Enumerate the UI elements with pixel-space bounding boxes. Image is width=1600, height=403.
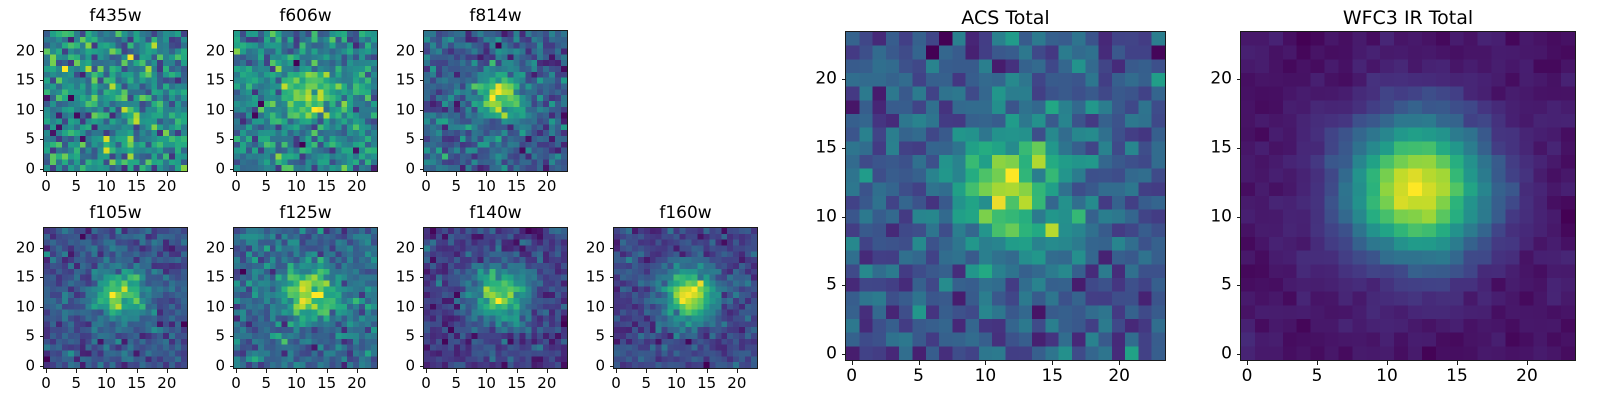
y-tickmark-f105w-10 — [40, 307, 44, 308]
y-tickmark-f140w-20 — [420, 248, 424, 249]
y-tickmark-f814w-15 — [420, 80, 424, 81]
x-tick-label-f814w-10: 10 — [477, 179, 496, 194]
heatmap-image-wfc3-ir-total — [1241, 32, 1575, 360]
x-tick-label-f435w-0: 0 — [41, 179, 51, 194]
axes-f105w — [43, 227, 188, 369]
x-tickmark-f125w-10 — [296, 369, 297, 373]
x-tick-label-f105w-0: 0 — [41, 376, 51, 391]
y-tick-label-f105w-15: 15 — [0, 270, 35, 285]
y-tick-label-f435w-10: 10 — [0, 102, 35, 117]
x-tick-label-f140w-5: 5 — [451, 376, 461, 391]
y-tick-label-f606w-15: 15 — [173, 73, 225, 88]
y-tickmark-f125w-10 — [230, 307, 234, 308]
y-tick-label-f105w-0: 0 — [0, 359, 35, 374]
panel-title-f105w: f105w — [43, 205, 188, 222]
x-tickmark-f160w-0 — [616, 369, 617, 373]
y-tickmark-f814w-0 — [420, 169, 424, 170]
x-tick-label-f105w-15: 15 — [127, 376, 146, 391]
y-tickmark-f125w-5 — [230, 336, 234, 337]
y-tickmark-wfc3-ir-total-20 — [1237, 79, 1241, 80]
y-tickmark-f606w-10 — [230, 110, 234, 111]
y-tick-label-f435w-20: 20 — [0, 43, 35, 58]
x-tickmark-f140w-0 — [426, 369, 427, 373]
y-tickmark-f105w-20 — [40, 248, 44, 249]
y-tickmark-f125w-0 — [230, 366, 234, 367]
y-tickmark-acs-total-15 — [842, 148, 846, 149]
y-tick-label-acs-total-5: 5 — [785, 277, 837, 294]
x-tickmark-f105w-15 — [137, 369, 138, 373]
x-tickmark-acs-total-0 — [852, 361, 853, 365]
y-tickmark-f606w-15 — [230, 80, 234, 81]
axes-f160w — [613, 227, 758, 369]
x-tick-label-wfc3-ir-total-5: 5 — [1312, 368, 1323, 385]
x-tick-label-f814w-15: 15 — [507, 179, 526, 194]
panel-title-f160w: f160w — [613, 205, 758, 222]
heatmap-image-acs-total — [846, 32, 1165, 360]
heatmap-image-f606w — [234, 31, 377, 171]
x-tick-label-f814w-0: 0 — [421, 179, 431, 194]
x-tickmark-wfc3-ir-total-0 — [1247, 361, 1248, 365]
panel-f814w: f814w0510152005101520 — [363, 4, 588, 206]
axes-wfc3-ir-total — [1240, 31, 1576, 361]
y-tickmark-f140w-10 — [420, 307, 424, 308]
x-tick-label-acs-total-15: 15 — [1041, 368, 1063, 385]
x-tickmark-f105w-0 — [46, 369, 47, 373]
x-tick-label-wfc3-ir-total-10: 10 — [1376, 368, 1398, 385]
x-tick-label-f435w-5: 5 — [71, 179, 81, 194]
x-tickmark-f606w-10 — [296, 172, 297, 176]
x-tickmark-f160w-15 — [707, 369, 708, 373]
x-tick-label-f435w-15: 15 — [127, 179, 146, 194]
y-tick-label-f105w-20: 20 — [0, 240, 35, 255]
y-tickmark-acs-total-10 — [842, 217, 846, 218]
y-tickmark-wfc3-ir-total-10 — [1237, 217, 1241, 218]
y-tick-label-f606w-20: 20 — [173, 43, 225, 58]
x-tick-label-f160w-0: 0 — [611, 376, 621, 391]
y-tick-label-acs-total-10: 10 — [785, 208, 837, 225]
x-tickmark-f435w-5 — [76, 172, 77, 176]
x-tick-label-f105w-5: 5 — [71, 376, 81, 391]
y-tick-label-f125w-0: 0 — [173, 359, 225, 374]
y-tickmark-f814w-5 — [420, 139, 424, 140]
y-tickmark-wfc3-ir-total-15 — [1237, 148, 1241, 149]
y-tickmark-f105w-0 — [40, 366, 44, 367]
y-tick-label-f814w-10: 10 — [363, 102, 415, 117]
x-tickmark-f606w-0 — [236, 172, 237, 176]
heatmap-image-f140w — [424, 228, 567, 368]
panel-title-f606w: f606w — [233, 8, 378, 25]
y-tick-label-f435w-15: 15 — [0, 73, 35, 88]
x-tick-label-f160w-20: 20 — [727, 376, 746, 391]
panel-title-f125w: f125w — [233, 205, 378, 222]
x-tick-label-f814w-5: 5 — [451, 179, 461, 194]
y-tickmark-f435w-10 — [40, 110, 44, 111]
x-tickmark-acs-total-15 — [1052, 361, 1053, 365]
y-tick-label-f160w-10: 10 — [553, 299, 605, 314]
x-tickmark-acs-total-10 — [985, 361, 986, 365]
y-tick-label-f814w-5: 5 — [363, 132, 415, 147]
figure-canvas: f435w0510152005101520f606w05101520051015… — [0, 0, 1600, 400]
y-tickmark-f125w-20 — [230, 248, 234, 249]
x-tickmark-f814w-10 — [486, 172, 487, 176]
x-tick-label-f606w-5: 5 — [261, 179, 271, 194]
panel-title-f435w: f435w — [43, 8, 188, 25]
x-tick-label-f140w-15: 15 — [507, 376, 526, 391]
y-tick-label-f814w-0: 0 — [363, 162, 415, 177]
x-tick-label-wfc3-ir-total-15: 15 — [1446, 368, 1468, 385]
x-tickmark-f125w-20 — [357, 369, 358, 373]
x-tick-label-f105w-10: 10 — [97, 376, 116, 391]
panel-f160w: f160w0510152005101520 — [553, 201, 778, 403]
x-tick-label-f814w-20: 20 — [537, 179, 556, 194]
panel-title-f140w: f140w — [423, 205, 568, 222]
x-tickmark-f814w-20 — [547, 172, 548, 176]
y-tick-label-f606w-0: 0 — [173, 162, 225, 177]
x-tickmark-f814w-5 — [456, 172, 457, 176]
x-tick-label-f140w-10: 10 — [477, 376, 496, 391]
y-tickmark-f160w-15 — [610, 277, 614, 278]
x-tick-label-f125w-0: 0 — [231, 376, 241, 391]
panel-acs-total: ACS Total0510152005101520 — [785, 5, 1186, 395]
x-tickmark-f814w-0 — [426, 172, 427, 176]
axes-f125w — [233, 227, 378, 369]
axes-f435w — [43, 30, 188, 172]
x-tick-label-acs-total-0: 0 — [846, 368, 857, 385]
y-tickmark-f125w-15 — [230, 277, 234, 278]
y-tick-label-f160w-15: 15 — [553, 270, 605, 285]
x-tickmark-f435w-15 — [137, 172, 138, 176]
x-tickmark-f606w-5 — [266, 172, 267, 176]
y-tickmark-f140w-15 — [420, 277, 424, 278]
x-tickmark-f105w-20 — [167, 369, 168, 373]
x-tickmark-f606w-15 — [327, 172, 328, 176]
x-tick-label-f160w-5: 5 — [641, 376, 651, 391]
y-tick-label-f606w-5: 5 — [173, 132, 225, 147]
y-tick-label-wfc3-ir-total-0: 0 — [1180, 346, 1232, 363]
y-tickmark-f435w-5 — [40, 139, 44, 140]
heatmap-image-f435w — [44, 31, 187, 171]
y-tick-label-f160w-0: 0 — [553, 359, 605, 374]
x-tickmark-wfc3-ir-total-20 — [1527, 361, 1528, 365]
y-tickmark-f814w-20 — [420, 51, 424, 52]
x-tick-label-f125w-15: 15 — [317, 376, 336, 391]
axes-acs-total — [845, 31, 1166, 361]
axes-f140w — [423, 227, 568, 369]
y-tickmark-f606w-5 — [230, 139, 234, 140]
y-tick-label-f125w-10: 10 — [173, 299, 225, 314]
x-tickmark-acs-total-20 — [1119, 361, 1120, 365]
axes-f814w — [423, 30, 568, 172]
x-tickmark-f160w-20 — [737, 369, 738, 373]
y-tick-label-f125w-5: 5 — [173, 329, 225, 344]
y-tick-label-f140w-20: 20 — [363, 240, 415, 255]
y-tick-label-wfc3-ir-total-20: 20 — [1180, 71, 1232, 88]
heatmap-image-f105w — [44, 228, 187, 368]
y-tick-label-f606w-10: 10 — [173, 102, 225, 117]
x-tickmark-f105w-5 — [76, 369, 77, 373]
panel-title-wfc3-ir-total: WFC3 IR Total — [1240, 9, 1576, 28]
x-tickmark-f435w-0 — [46, 172, 47, 176]
x-tickmark-f435w-20 — [167, 172, 168, 176]
x-tick-label-acs-total-10: 10 — [975, 368, 997, 385]
y-tick-label-f160w-5: 5 — [553, 329, 605, 344]
x-tickmark-f435w-10 — [106, 172, 107, 176]
x-tick-label-acs-total-5: 5 — [913, 368, 924, 385]
x-tickmark-wfc3-ir-total-15 — [1457, 361, 1458, 365]
y-tick-label-f435w-0: 0 — [0, 162, 35, 177]
x-tickmark-f160w-5 — [646, 369, 647, 373]
y-tick-label-f814w-20: 20 — [363, 43, 415, 58]
x-tick-label-f606w-0: 0 — [231, 179, 241, 194]
y-tickmark-f140w-0 — [420, 366, 424, 367]
panel-title-f814w: f814w — [423, 8, 568, 25]
x-tickmark-wfc3-ir-total-5 — [1317, 361, 1318, 365]
heatmap-image-f160w — [614, 228, 757, 368]
y-tickmark-f160w-20 — [610, 248, 614, 249]
x-tick-label-wfc3-ir-total-0: 0 — [1242, 368, 1253, 385]
y-tickmark-f160w-0 — [610, 366, 614, 367]
y-tickmark-f606w-20 — [230, 51, 234, 52]
x-tick-label-f125w-10: 10 — [287, 376, 306, 391]
panel-title-acs-total: ACS Total — [845, 9, 1166, 28]
y-tick-label-f435w-5: 5 — [0, 132, 35, 147]
x-tickmark-f105w-10 — [106, 369, 107, 373]
y-tick-label-acs-total-20: 20 — [785, 71, 837, 88]
y-tickmark-acs-total-0 — [842, 354, 846, 355]
y-tick-label-f140w-15: 15 — [363, 270, 415, 285]
y-tick-label-f160w-20: 20 — [553, 240, 605, 255]
y-tick-label-wfc3-ir-total-10: 10 — [1180, 208, 1232, 225]
x-tickmark-f125w-15 — [327, 369, 328, 373]
y-tick-label-acs-total-15: 15 — [785, 139, 837, 156]
y-tick-label-acs-total-0: 0 — [785, 346, 837, 363]
y-tickmark-acs-total-20 — [842, 79, 846, 80]
y-tickmark-f140w-5 — [420, 336, 424, 337]
y-tickmark-acs-total-5 — [842, 285, 846, 286]
x-tick-label-f606w-10: 10 — [287, 179, 306, 194]
x-tickmark-acs-total-5 — [919, 361, 920, 365]
y-tick-label-f105w-10: 10 — [0, 299, 35, 314]
y-tickmark-f435w-20 — [40, 51, 44, 52]
panel-wfc3-ir-total: WFC3 IR Total0510152005101520 — [1180, 5, 1596, 395]
y-tickmark-wfc3-ir-total-0 — [1237, 354, 1241, 355]
y-tick-label-wfc3-ir-total-5: 5 — [1180, 277, 1232, 294]
x-tickmark-f606w-20 — [357, 172, 358, 176]
y-tick-label-f125w-20: 20 — [173, 240, 225, 255]
y-tickmark-f435w-15 — [40, 80, 44, 81]
y-tickmark-f435w-0 — [40, 169, 44, 170]
x-tick-label-f160w-10: 10 — [667, 376, 686, 391]
x-tickmark-f140w-5 — [456, 369, 457, 373]
heatmap-image-f125w — [234, 228, 377, 368]
y-tick-label-f814w-15: 15 — [363, 73, 415, 88]
x-tick-label-f140w-0: 0 — [421, 376, 431, 391]
y-tick-label-f140w-5: 5 — [363, 329, 415, 344]
axes-f606w — [233, 30, 378, 172]
x-tickmark-f160w-10 — [676, 369, 677, 373]
x-tickmark-f140w-15 — [517, 369, 518, 373]
x-tick-label-f606w-15: 15 — [317, 179, 336, 194]
x-tick-label-f160w-15: 15 — [697, 376, 716, 391]
x-tick-label-f435w-10: 10 — [97, 179, 116, 194]
y-tickmark-f105w-15 — [40, 277, 44, 278]
y-tick-label-f140w-10: 10 — [363, 299, 415, 314]
y-tickmark-f814w-10 — [420, 110, 424, 111]
x-tickmark-f814w-15 — [517, 172, 518, 176]
y-tickmark-f160w-10 — [610, 307, 614, 308]
x-tickmark-f140w-20 — [547, 369, 548, 373]
x-tickmark-wfc3-ir-total-10 — [1387, 361, 1388, 365]
x-tickmark-f125w-5 — [266, 369, 267, 373]
y-tick-label-f125w-15: 15 — [173, 270, 225, 285]
y-tickmark-f606w-0 — [230, 169, 234, 170]
x-tickmark-f125w-0 — [236, 369, 237, 373]
heatmap-image-f814w — [424, 31, 567, 171]
y-tick-label-wfc3-ir-total-15: 15 — [1180, 139, 1232, 156]
y-tickmark-f105w-5 — [40, 336, 44, 337]
y-tickmark-wfc3-ir-total-5 — [1237, 285, 1241, 286]
y-tick-label-f140w-0: 0 — [363, 359, 415, 374]
x-tickmark-f140w-10 — [486, 369, 487, 373]
x-tick-label-acs-total-20: 20 — [1108, 368, 1130, 385]
x-tick-label-wfc3-ir-total-20: 20 — [1516, 368, 1538, 385]
y-tick-label-f105w-5: 5 — [0, 329, 35, 344]
x-tick-label-f125w-5: 5 — [261, 376, 271, 391]
y-tickmark-f160w-5 — [610, 336, 614, 337]
